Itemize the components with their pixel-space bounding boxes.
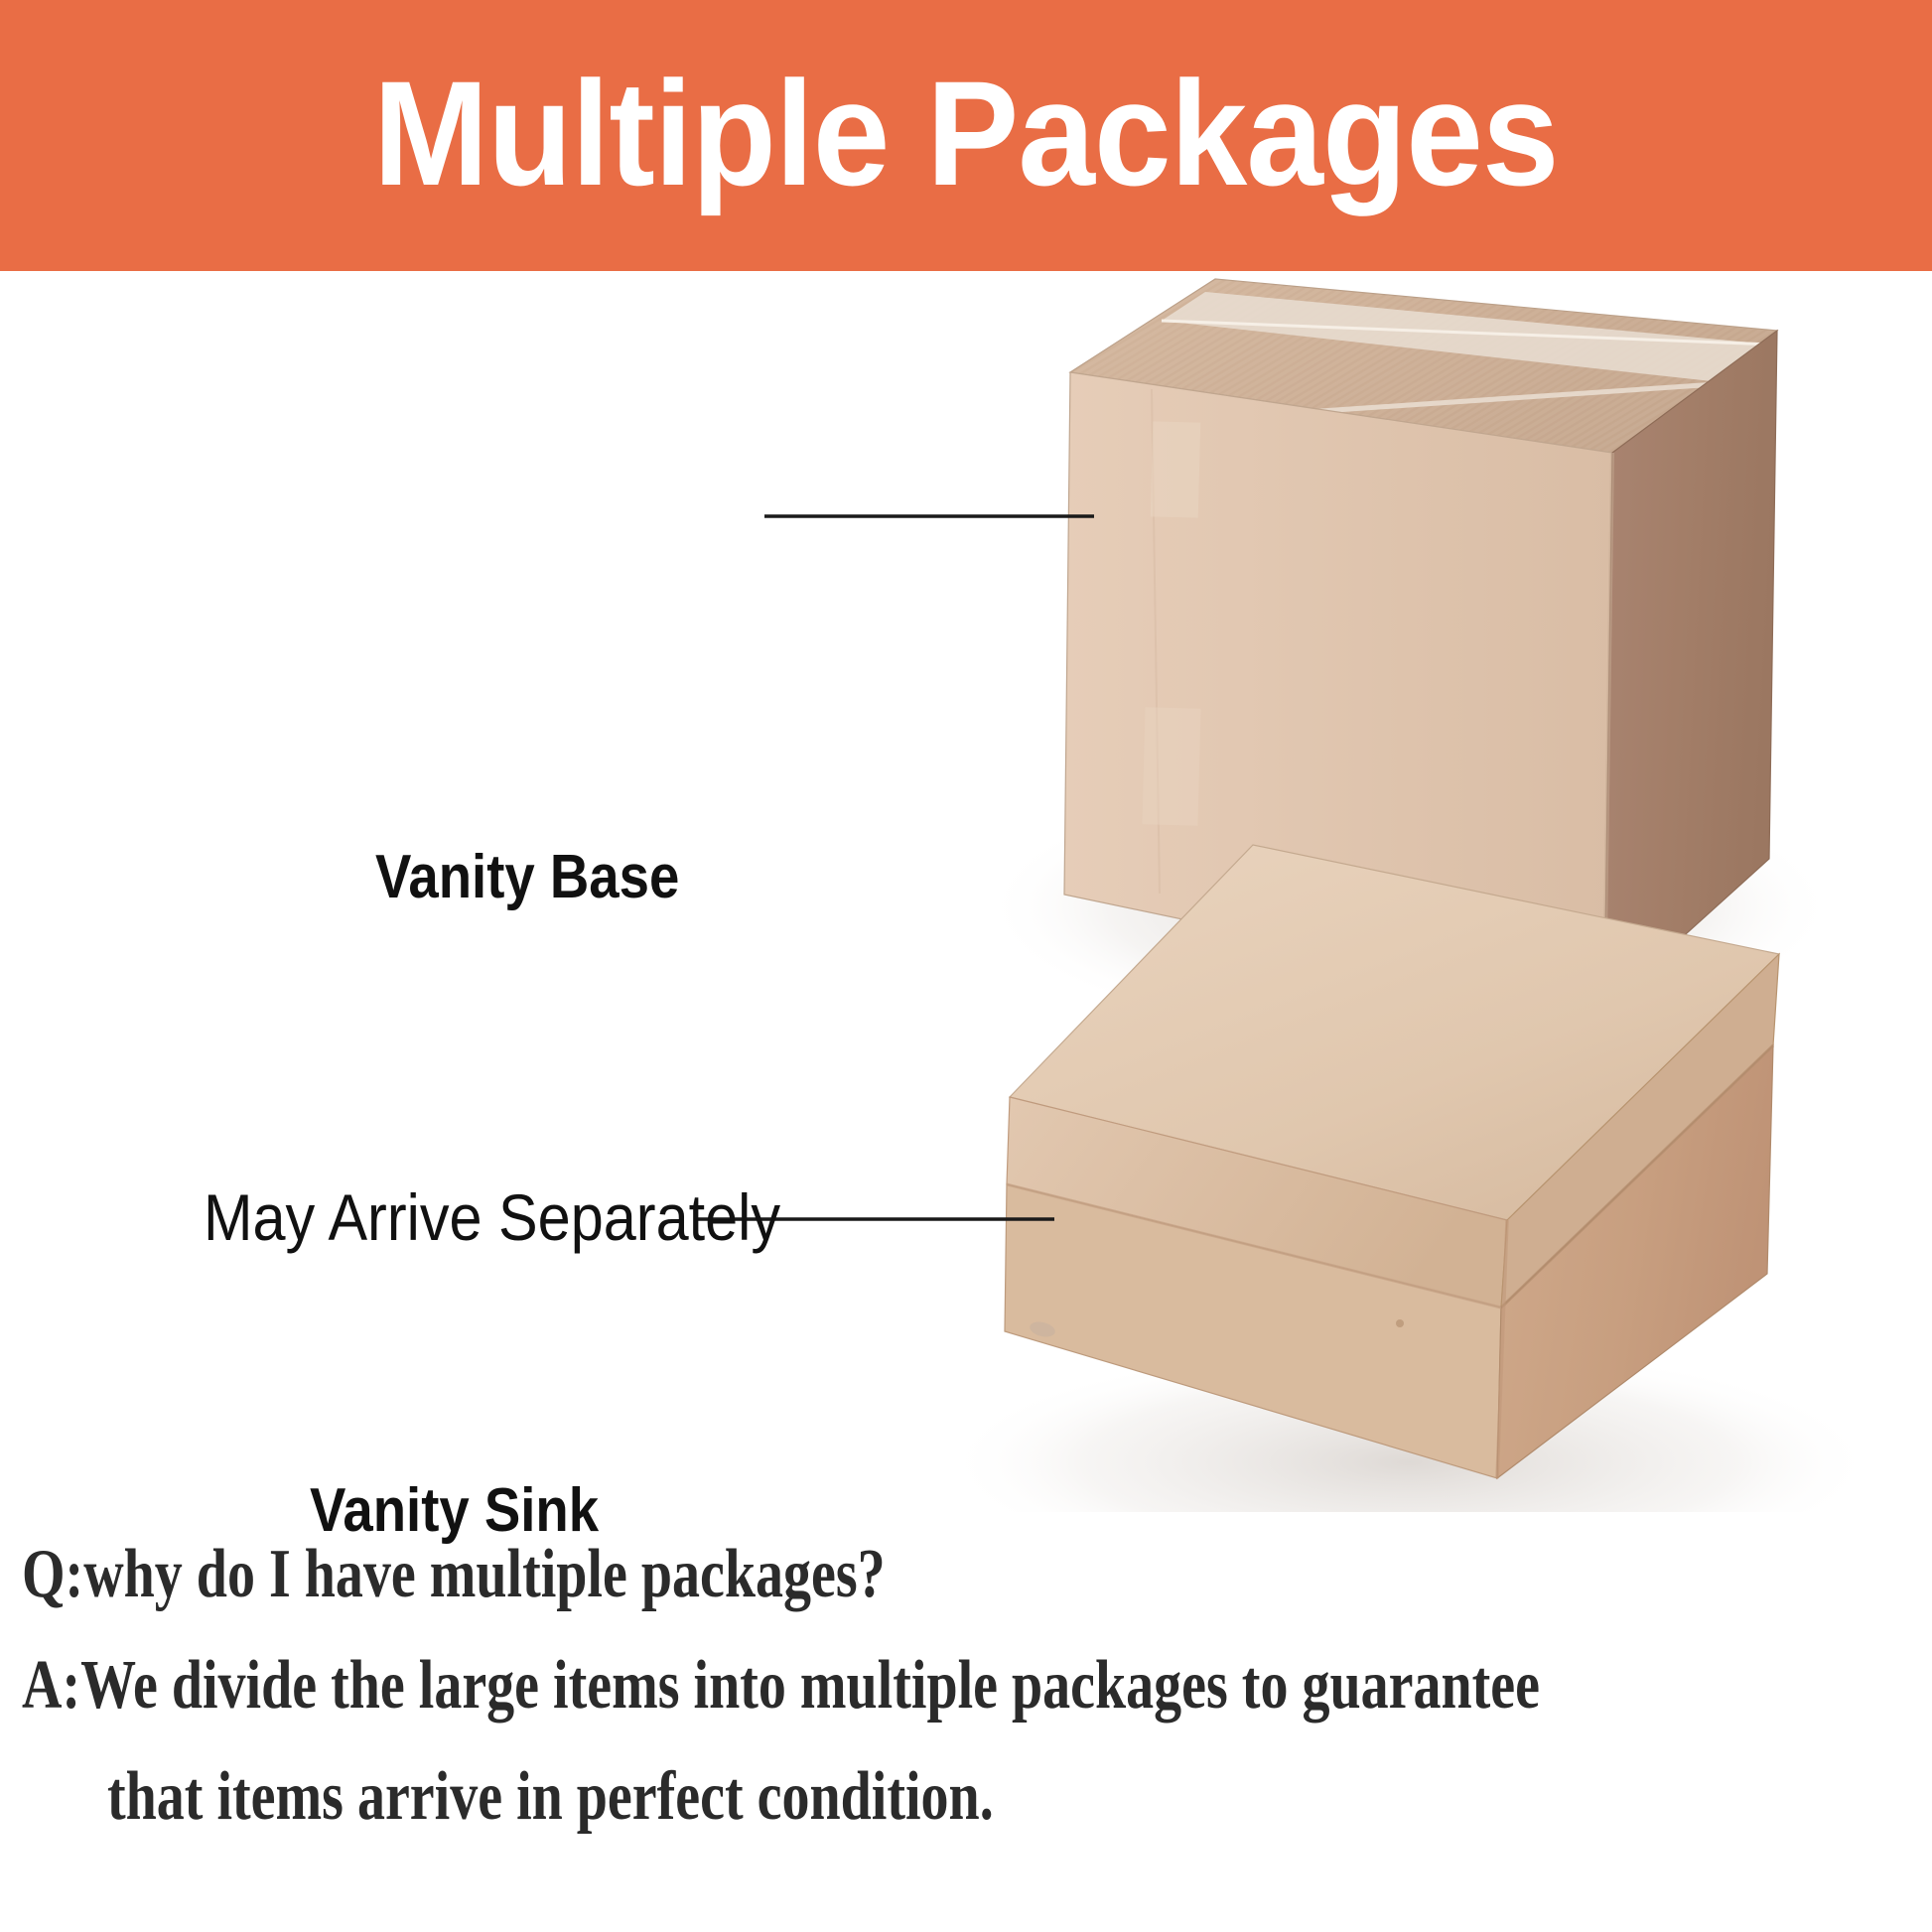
vanity-base-tape-residue-lower xyxy=(1142,707,1200,825)
header-banner: Multiple Packages xyxy=(0,0,1932,271)
vanity-base-tape-residue-upper xyxy=(1151,421,1200,517)
faq-answer-line-1: A:We divide the large items into multipl… xyxy=(22,1630,1550,1741)
page-title: Multiple Packages xyxy=(373,59,1559,207)
package-boxes-graphic xyxy=(0,271,1932,1512)
vanity-sink-surface-speck xyxy=(1396,1319,1404,1327)
callout-label-vanity-base: Vanity Base xyxy=(375,842,679,912)
may-arrive-separately-note: May Arrive Separately xyxy=(204,1179,780,1255)
faq-question: Q:why do I have multiple packages? xyxy=(22,1519,1550,1630)
faq-answer-line-2: that items arrive in perfect condition. xyxy=(107,1741,1567,1853)
packages-illustration: Vanity Base May Arrive Separately Vanity… xyxy=(0,271,1932,1512)
faq-block: Q:why do I have multiple packages? A:We … xyxy=(0,1519,1932,1853)
